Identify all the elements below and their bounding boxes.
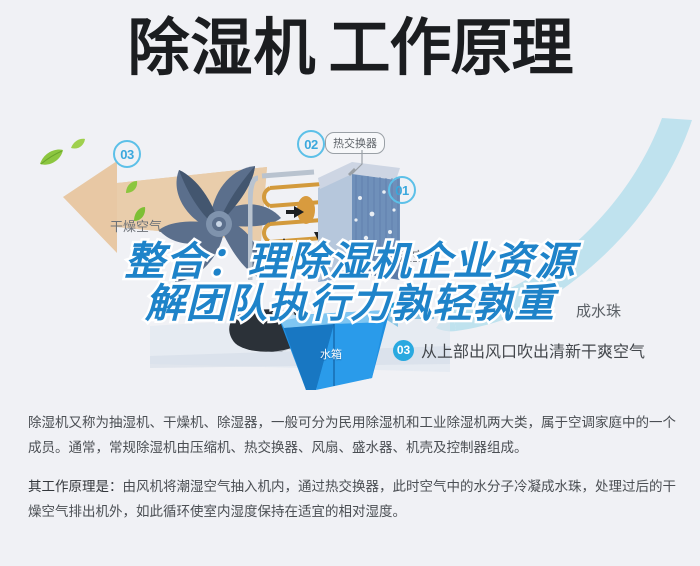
caption-badge-03: 03: [393, 340, 414, 361]
paragraph-1: 除湿机又称为抽湿机、干燥机、除湿器，一般可分为民用除湿机和工业除湿机两大类，属于…: [28, 410, 676, 460]
paragraph-2: 其工作原理是：由风机将潮湿空气抽入机内，通过热交换器，此时空气中的水分子冷凝成水…: [28, 474, 676, 524]
callout-pointer-icon: [344, 150, 368, 176]
water-tank-label: 水箱: [320, 346, 342, 362]
caption-text-03: 从上部出风口吹出清新干爽空气: [421, 338, 645, 362]
leaf-icon: [38, 148, 64, 168]
overlay-headline-line2: 解团队执行力孰轻孰重: [0, 283, 700, 325]
leaf-icon: [70, 138, 86, 151]
paragraph-2-text: 由风机将潮湿空气抽入机内，通过热交换器，此时空气中的水分子冷凝成水珠，处理过后的…: [28, 479, 676, 519]
body-text: 除湿机又称为抽湿机、干燥机、除湿器，一般可分为民用除湿机和工业除湿机两大类，属于…: [28, 410, 676, 538]
leaf-icon: [124, 180, 139, 194]
infographic-page: 除湿机工作原理: [0, 0, 700, 566]
overlay-headline: 整合：理除湿机企业资源 解团队执行力孰轻孰重: [0, 241, 700, 325]
overlay-headline-line1: 整合：理除湿机企业资源: [125, 240, 576, 284]
badge-03: 03: [113, 140, 141, 168]
caption-step-03: 03 从上部出风口吹出清新干爽空气: [393, 338, 645, 362]
badge-01: 01: [388, 176, 416, 204]
label-dry-air: 干燥空气: [110, 216, 162, 235]
badge-02: 02: [297, 130, 325, 158]
page-title: 除湿机工作原理: [0, 18, 700, 80]
paragraph-2-lead: 其工作原理是：: [28, 479, 123, 494]
page-title-part1: 除湿机: [127, 14, 316, 83]
page-title-part2: 工作原理: [329, 14, 573, 83]
